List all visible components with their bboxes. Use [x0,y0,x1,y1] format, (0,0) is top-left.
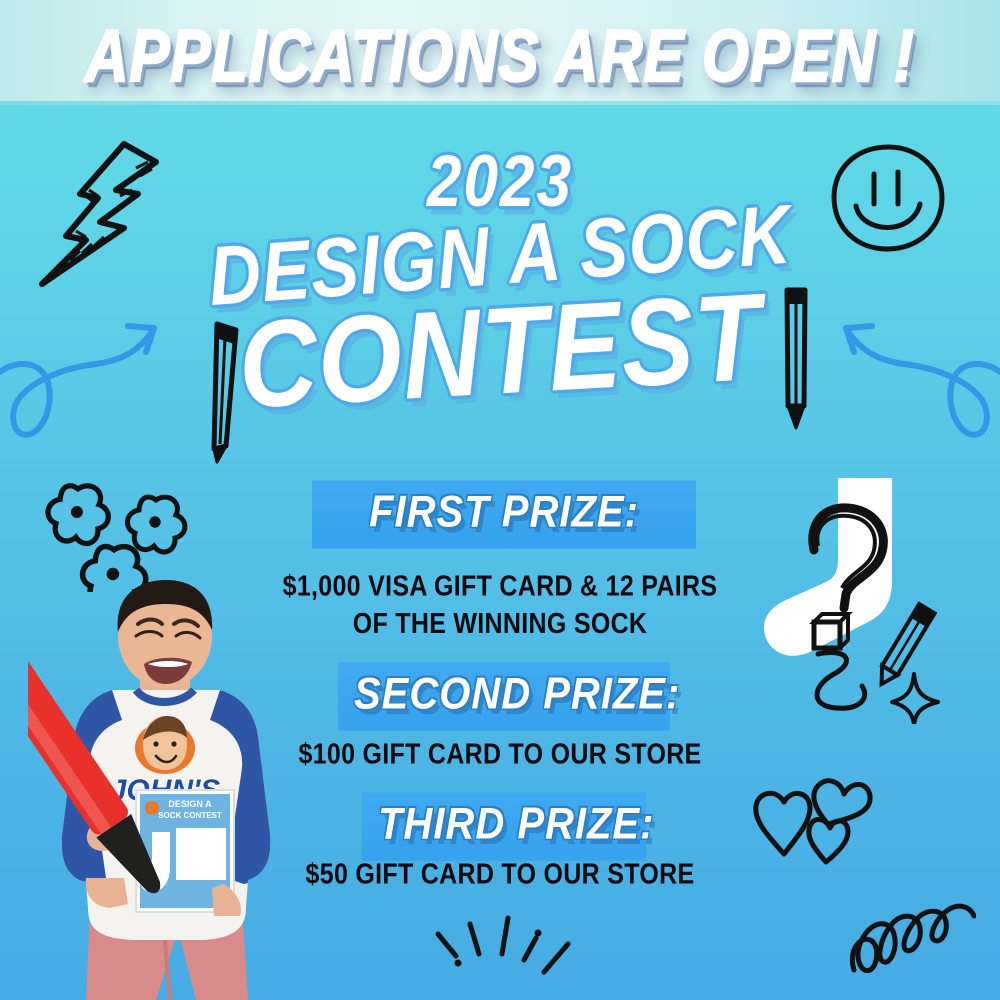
entry-sheet-line2: SOCK CONTEST [158,811,222,820]
header-banner: APPLICATIONS ARE OPEN ! [0,0,1000,105]
entry-sheet-line1: DESIGN A [168,799,212,809]
banner-underline [0,101,1000,105]
poster-canvas: APPLICATIONS ARE OPEN ! [0,0,1000,1000]
third-prize-band: THIRD PRIZE: [362,792,646,860]
banner-headline: APPLICATIONS ARE OPEN ! [0,14,1000,98]
first-prize-description: $1,000 VISA GIFT CARD & 12 PAIRS OF THE … [0,568,1000,643]
hearts-icon [748,762,878,870]
second-prize-band: SECOND PRIZE: [338,662,670,730]
second-prize-description: $100 GIFT CARD TO OUR STORE [0,736,1000,774]
loop-spiral-icon [846,892,976,978]
burst-marks-icon [424,902,594,982]
first-prize-band: FIRST PRIZE: [312,480,696,548]
third-prize-description: $50 GIFT CARD TO OUR STORE [0,856,1000,894]
